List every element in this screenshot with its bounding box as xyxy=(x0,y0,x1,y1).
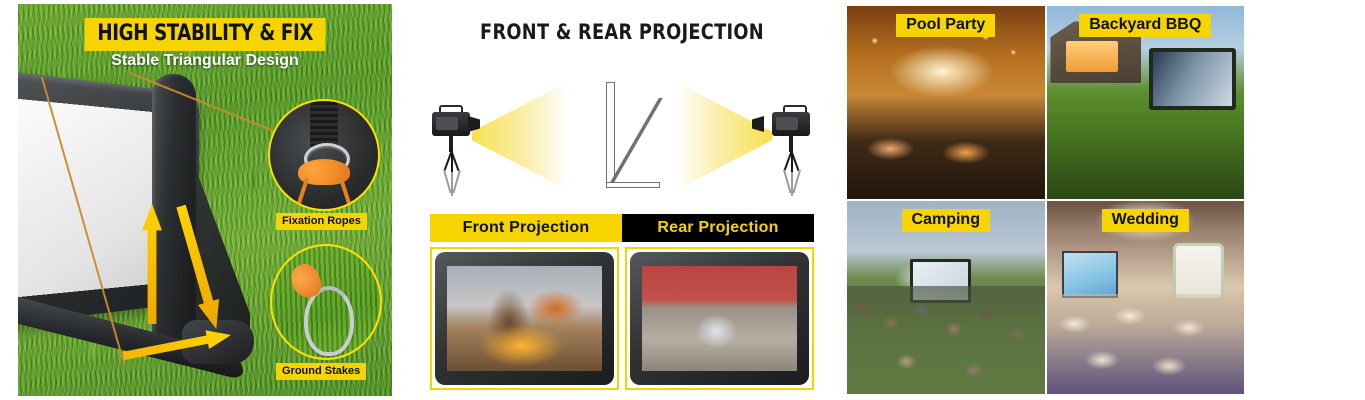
callout-label-ground-stakes: Ground Stakes xyxy=(276,361,366,380)
use-case-label-text: Pool Party xyxy=(896,14,995,37)
use-case-cell-pool-party: Pool Party xyxy=(847,6,1045,199)
indoor-screen xyxy=(1062,251,1117,297)
screen-side-profile-icon xyxy=(586,82,658,190)
projector-right-icon xyxy=(758,104,814,196)
rear-projection-photo xyxy=(625,247,814,390)
tripod-leg-extension xyxy=(443,170,451,193)
use-case-cell-wedding: Wedding xyxy=(1047,201,1245,394)
callout-ground-stakes xyxy=(270,244,382,360)
outdoor-screen xyxy=(1149,48,1236,110)
callout-fixation-ropes xyxy=(268,99,380,211)
projector-body xyxy=(432,112,470,136)
projector-left-icon xyxy=(430,104,486,196)
callout-label-text: Ground Stakes xyxy=(276,363,366,380)
banquet-tables xyxy=(1047,294,1245,394)
use-case-label: Camping xyxy=(847,209,1045,232)
use-case-cell-backyard-bbq: Backyard BBQ xyxy=(1047,6,1245,199)
panel-title-text: HIGH STABILITY & FIX xyxy=(84,18,325,51)
panel-title-banner: HIGH STABILITY & FIX xyxy=(18,18,392,51)
rope-tail-left xyxy=(295,177,309,211)
use-case-label: Backyard BBQ xyxy=(1047,14,1245,37)
use-case-cell-camping: Camping xyxy=(847,201,1045,394)
product-infographic-banner: HIGH STABILITY & FIX Stable Triangular D… xyxy=(0,0,1365,400)
callout-label-fixation-ropes: Fixation Ropes xyxy=(276,211,367,230)
screen-bezel xyxy=(630,252,809,385)
use-case-label-text: Camping xyxy=(902,209,990,232)
tripod-leg-extension xyxy=(452,170,460,193)
dragon-movie-still xyxy=(447,266,602,371)
use-case-label-text: Wedding xyxy=(1102,209,1189,232)
tab-rear-projection[interactable]: Rear Projection xyxy=(622,214,814,242)
tripod-leg-extension xyxy=(783,170,791,193)
screen-bezel xyxy=(435,252,614,385)
inflatable-screen-illustration xyxy=(22,64,237,382)
crowd-of-people xyxy=(847,286,1045,394)
projection-sample-shots xyxy=(430,247,814,390)
use-case-label-text: Backyard BBQ xyxy=(1079,14,1211,37)
projection-title: FRONT & REAR PROJECTION xyxy=(436,20,808,44)
panel-subtitle: Stable Triangular Design xyxy=(18,52,392,70)
projector-lens xyxy=(468,116,480,132)
window-light xyxy=(1066,41,1117,72)
screen-profile-panel xyxy=(606,82,615,188)
projector-body xyxy=(772,112,810,136)
panel-front-rear-projection: FRONT & REAR PROJECTION xyxy=(424,0,820,400)
screen-side-post xyxy=(152,74,196,342)
light-beam-left xyxy=(472,82,568,190)
rope-tail-right xyxy=(339,177,353,211)
use-case-label: Wedding xyxy=(1047,209,1245,232)
tripod-leg-extension xyxy=(792,170,800,193)
screen-profile-brace xyxy=(608,98,663,186)
projection-tab-bar: Front Projection Rear Projection xyxy=(430,214,814,242)
pigeons-square-still xyxy=(642,266,797,371)
panel-high-stability: HIGH STABILITY & FIX Stable Triangular D… xyxy=(18,4,392,396)
front-projection-photo xyxy=(430,247,619,390)
webbing-strap xyxy=(310,99,338,147)
panel-use-cases: Pool Party Backyard BBQ Camping Wedding xyxy=(847,6,1244,394)
projection-diagram xyxy=(424,70,820,202)
use-case-label: Pool Party xyxy=(847,14,1045,37)
screen-profile-base xyxy=(606,182,660,188)
callout-label-text: Fixation Ropes xyxy=(276,213,367,230)
tab-front-projection[interactable]: Front Projection xyxy=(430,214,622,242)
